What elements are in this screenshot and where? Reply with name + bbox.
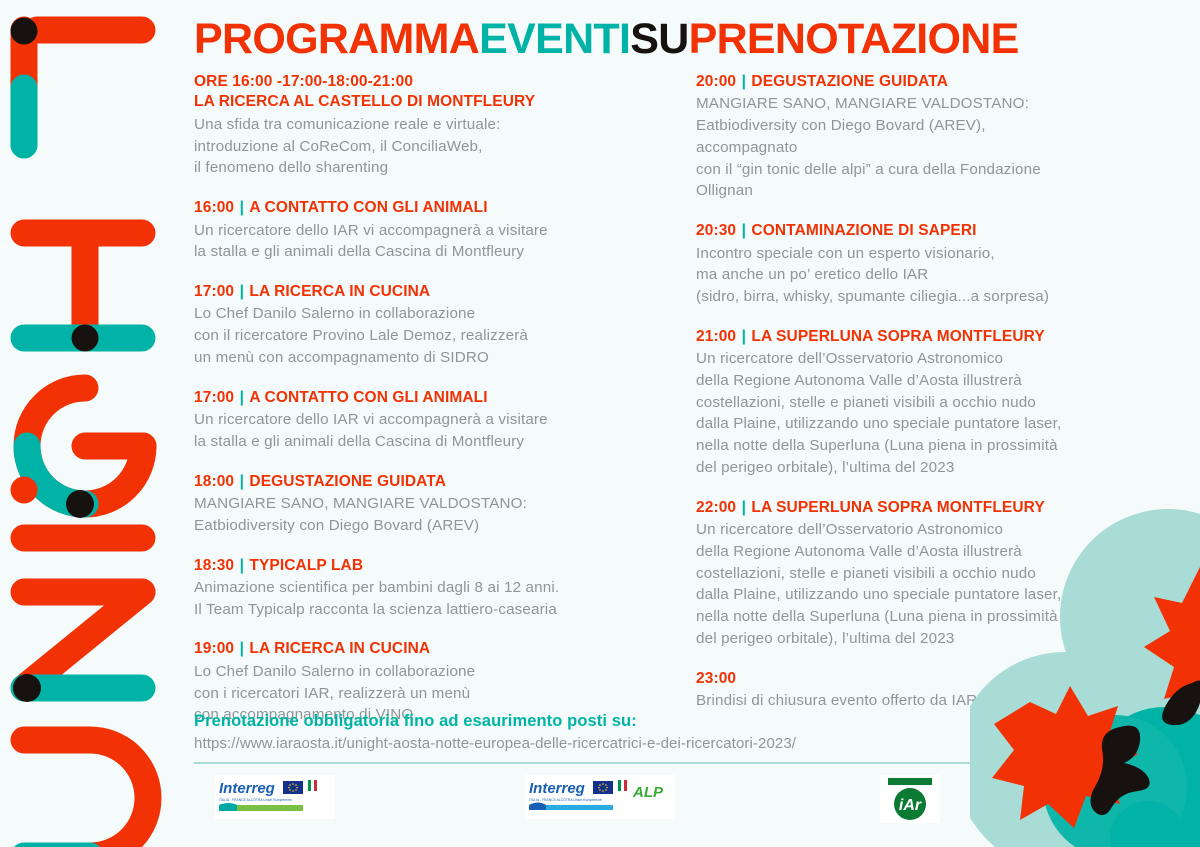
event-name: CONTAMINAZIONE DI SAPERI <box>751 222 976 239</box>
event-heading: 18:30 | TYPICALP LAB <box>194 556 674 576</box>
event-description-line: Il Team Typicalp racconta la scienza lat… <box>194 599 674 621</box>
program-columns: ORE 16:00 -17:00-18:00-21:00LA RICERCA A… <box>175 72 1200 726</box>
event-name: A CONTATTO CON GLI ANIMALI <box>249 389 487 406</box>
event-description-line: Un ricercatore dell’Osservatorio Astrono… <box>696 348 1176 370</box>
event-time: 18:30 <box>194 557 234 574</box>
event-description: Brindisi di chiusura evento offerto da I… <box>696 690 1176 712</box>
event-separator: | <box>736 499 751 516</box>
program-column-right: 20:00 | DEGUSTAZIONE GUIDATAMANGIARE SAN… <box>696 72 1176 726</box>
event-heading: 21:00 | LA SUPERLUNA SOPRA MONTFLEURY <box>696 327 1176 347</box>
event-description-line: MANGIARE SANO, MANGIARE VALDOSTANO: <box>194 493 674 515</box>
event-description-line: introduzione al CoReCom, il ConciliaWeb, <box>194 136 674 158</box>
event-time: 22:00 <box>696 499 736 516</box>
sponsor-logos: Interreg ITALIA - FRANCE ALCOTRA Union E… <box>175 775 1200 835</box>
event-description-line: del perigeo orbitale), l’ultima del 2023 <box>696 457 1176 479</box>
event-description-line: Eatbiodiversity con Diego Bovard (AREV) <box>194 515 674 537</box>
event-name: TYPICALP LAB <box>249 557 363 574</box>
interreg-logo-1: Interreg ITALIA - FRANCE ALCOTRA Union E… <box>215 775 335 819</box>
event-name: LA RICERCA IN CUCINA <box>249 283 430 300</box>
event-item: 23:00Brindisi di chiusura evento offerto… <box>696 669 1176 712</box>
event-heading: 17:00 | A CONTATTO CON GLI ANIMALI <box>194 388 674 408</box>
event-description-line: Un ricercatore dell’Osservatorio Astrono… <box>696 519 1176 541</box>
event-heading: ORE 16:00 -17:00-18:00-21:00LA RICERCA A… <box>194 72 674 113</box>
event-time: 20:00 <box>696 73 736 90</box>
event-separator: | <box>234 283 249 300</box>
event-item: ORE 16:00 -17:00-18:00-21:00LA RICERCA A… <box>194 72 674 179</box>
poster-content: PROGRAMMAEVENTISUPRENOTAZIONE ORE 16:00 … <box>175 0 1200 847</box>
event-item: 22:00 | LA SUPERLUNA SOPRA MONTFLEURYUn … <box>696 498 1176 650</box>
title-segment-prenotazione: PRENOTAZIONE <box>689 15 1019 63</box>
event-item: 17:00 | LA RICERCA IN CUCINALo Chef Dani… <box>194 282 674 369</box>
event-description-line: la stalla e gli animali della Cascina di… <box>194 431 674 453</box>
svg-text:ITALIA - FRANCE ALCOTRA Un: ITALIA - FRANCE ALCOTRA Union Européenne <box>219 798 292 802</box>
event-name: DEGUSTAZIONE GUIDATA <box>751 73 948 90</box>
event-name: LA RICERCA AL CASTELLO DI MONTFLEURY <box>194 92 674 112</box>
event-description-line: ma anche un po’ eretico dello IAR <box>696 264 1176 286</box>
event-name: A CONTATTO CON GLI ANIMALI <box>249 199 487 216</box>
event-separator: | <box>234 199 249 216</box>
event-name: LA SUPERLUNA SOPRA MONTFLEURY <box>751 328 1044 345</box>
event-separator: | <box>736 222 751 239</box>
title-segment-su: SU <box>630 15 688 63</box>
event-description-line: nella notte della Superluna (Luna piena … <box>696 606 1176 628</box>
booking-url[interactable]: https://www.iaraosta.it/unight-aosta-not… <box>194 735 1184 752</box>
event-item: 16:00 | A CONTATTO CON GLI ANIMALIUn ric… <box>194 198 674 263</box>
event-description: Animazione scientifica per bambini dagli… <box>194 577 674 620</box>
event-description: Incontro speciale con un esperto visiona… <box>696 243 1176 308</box>
event-description-line: Eatbiodiversity con Diego Bovard (AREV), <box>696 115 1176 137</box>
event-description-line: nella notte della Superluna (Luna piena … <box>696 435 1176 457</box>
event-time: 19:00 <box>194 640 234 657</box>
event-description-line: (sidro, birra, whisky, spumante ciliegia… <box>696 286 1176 308</box>
event-description-line: accompagnato <box>696 137 1176 159</box>
event-item: 17:00 | A CONTATTO CON GLI ANIMALIUn ric… <box>194 388 674 453</box>
event-description-line: Brindisi di chiusura evento offerto da I… <box>696 690 1176 712</box>
event-item: 21:00 | LA SUPERLUNA SOPRA MONTFLEURYUn … <box>696 327 1176 479</box>
event-separator: | <box>736 73 751 90</box>
event-time: ORE 16:00 -17:00-18:00-21:00 <box>194 73 413 90</box>
event-heading: 20:30 | CONTAMINAZIONE DI SAPERI <box>696 221 1176 241</box>
event-heading: 17:00 | LA RICERCA IN CUCINA <box>194 282 674 302</box>
event-description: MANGIARE SANO, MANGIARE VALDOSTANO:Eatbi… <box>696 93 1176 202</box>
event-description-line: un menù con accompagnamento di SIDRO <box>194 347 674 369</box>
booking-title: Prenotazione obbligatoria fino ad esauri… <box>194 712 1184 731</box>
event-time: 21:00 <box>696 328 736 345</box>
page-title: PROGRAMMAEVENTISUPRENOTAZIONE <box>194 18 1019 61</box>
event-time: 16:00 <box>194 199 234 216</box>
event-description: Un ricercatore dell’Osservatorio Astrono… <box>696 348 1176 478</box>
event-description-line: Un ricercatore dello IAR vi accompagnerà… <box>194 220 674 242</box>
event-heading: 23:00 <box>696 669 1176 689</box>
event-description-line: della Regione Autonoma Valle d’Aosta ill… <box>696 541 1176 563</box>
title-segment-eventi: EVENTI <box>479 15 630 63</box>
event-description-line: con il “gin tonic delle alpi” a cura del… <box>696 159 1176 181</box>
svg-text:ALP: ALP <box>632 784 664 801</box>
event-item: 18:30 | TYPICALP LABAnimazione scientifi… <box>194 556 674 621</box>
event-description-line: costellazioni, stelle e pianeti visibili… <box>696 392 1176 414</box>
event-heading: 19:00 | LA RICERCA IN CUCINA <box>194 639 674 659</box>
event-time: 23:00 <box>696 670 736 687</box>
event-heading: 22:00 | LA SUPERLUNA SOPRA MONTFLEURY <box>696 498 1176 518</box>
program-column-left: ORE 16:00 -17:00-18:00-21:00LA RICERCA A… <box>194 72 674 726</box>
event-description-line: Una sfida tra comunicazione reale e virt… <box>194 114 674 136</box>
event-separator: | <box>736 328 751 345</box>
event-heading: 16:00 | A CONTATTO CON GLI ANIMALI <box>194 198 674 218</box>
event-name: LA RICERCA IN CUCINA <box>249 640 430 657</box>
event-description-line: Incontro speciale con un esperto visiona… <box>696 243 1176 265</box>
event-time: 17:00 <box>194 283 234 300</box>
event-description: Un ricercatore dello IAR vi accompagnerà… <box>194 220 674 263</box>
svg-text:Interreg: Interreg <box>529 780 585 797</box>
event-heading: 20:00 | DEGUSTAZIONE GUIDATA <box>696 72 1176 92</box>
event-description: MANGIARE SANO, MANGIARE VALDOSTANO:Eatbi… <box>194 493 674 536</box>
event-item: 18:00 | DEGUSTAZIONE GUIDATAMANGIARE SAN… <box>194 472 674 537</box>
poster-root: PROGRAMMAEVENTISUPRENOTAZIONE ORE 16:00 … <box>0 0 1200 847</box>
event-description-line: MANGIARE SANO, MANGIARE VALDOSTANO: <box>696 93 1176 115</box>
title-segment-programma: PROGRAMMA <box>194 15 479 63</box>
event-description-line: Lo Chef Danilo Salerno in collaborazione <box>194 303 674 325</box>
event-separator: | <box>234 473 249 490</box>
event-description-line: dalla Plaine, utilizzando uno speciale p… <box>696 584 1176 606</box>
event-name: LA SUPERLUNA SOPRA MONTFLEURY <box>751 499 1044 516</box>
event-description-line: Ollignan <box>696 180 1176 202</box>
event-description-line: costellazioni, stelle e pianeti visibili… <box>696 563 1176 585</box>
svg-text:Interreg: Interreg <box>219 780 275 797</box>
event-name: DEGUSTAZIONE GUIDATA <box>249 473 446 490</box>
event-separator: | <box>234 640 249 657</box>
event-item: 20:00 | DEGUSTAZIONE GUIDATAMANGIARE SAN… <box>696 72 1176 202</box>
event-description-line: il fenomeno dello sharenting <box>194 157 674 179</box>
event-time: 20:30 <box>696 222 736 239</box>
event-heading: 18:00 | DEGUSTAZIONE GUIDATA <box>194 472 674 492</box>
event-separator: | <box>234 389 249 406</box>
event-time: 18:00 <box>194 473 234 490</box>
event-item: 20:30 | CONTAMINAZIONE DI SAPERIIncontro… <box>696 221 1176 308</box>
event-description-line: con il ricercatore Provino Lale Demoz, r… <box>194 325 674 347</box>
event-description-line: dalla Plaine, utilizzando uno speciale p… <box>696 413 1176 435</box>
event-separator: | <box>234 557 249 574</box>
event-description: Un ricercatore dello IAR vi accompagnerà… <box>194 409 674 452</box>
event-description: Un ricercatore dell’Osservatorio Astrono… <box>696 519 1176 649</box>
footer-divider <box>194 762 994 764</box>
svg-text:ITALIA - FRANCE ALCOTRA Un: ITALIA - FRANCE ALCOTRA Union Européenne <box>529 798 602 802</box>
event-description-line: la stalla e gli animali della Cascina di… <box>194 241 674 263</box>
event-description: Una sfida tra comunicazione reale e virt… <box>194 114 674 179</box>
event-description-line: Animazione scientifica per bambini dagli… <box>194 577 674 599</box>
event-description-line: con i ricercatori IAR, realizzerà un men… <box>194 683 674 705</box>
event-description-line: del perigeo orbitale), l’ultima del 2023 <box>696 628 1176 650</box>
event-description: Lo Chef Danilo Salerno in collaborazione… <box>194 303 674 368</box>
event-description-line: Un ricercatore dello IAR vi accompagnerà… <box>194 409 674 431</box>
svg-text:iAr: iAr <box>899 797 922 814</box>
event-description-line: della Regione Autonoma Valle d’Aosta ill… <box>696 370 1176 392</box>
iar-logo: iAr <box>880 775 940 823</box>
event-description-line: Lo Chef Danilo Salerno in collaborazione <box>194 661 674 683</box>
event-time: 17:00 <box>194 389 234 406</box>
unight-vertical-logo <box>0 0 175 847</box>
footer-booking: Prenotazione obbligatoria fino ad esauri… <box>194 712 1184 764</box>
interreg-alp-logo: Interreg ITALIA - FRANCE ALCOTRA Union E… <box>525 775 675 819</box>
